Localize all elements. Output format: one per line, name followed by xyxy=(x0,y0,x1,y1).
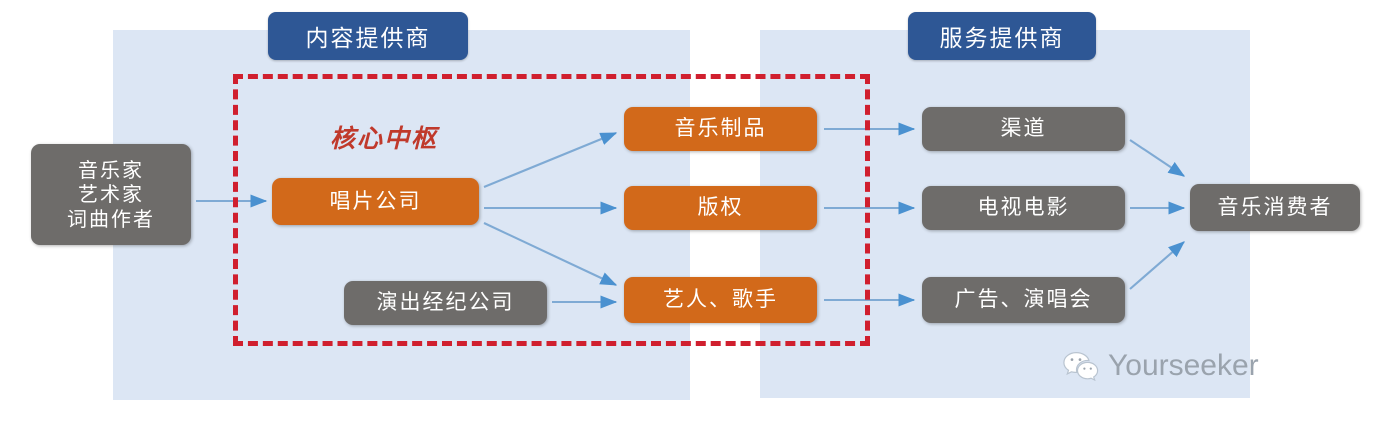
watermark: Yourseeker xyxy=(1063,349,1259,383)
node-music-products: 音乐制品 xyxy=(624,107,817,151)
node-channel-label: 渠道 xyxy=(1001,116,1047,142)
section-header-service-provider: 服务提供商 xyxy=(908,12,1096,60)
node-creators: 音乐家 艺术家 词曲作者 xyxy=(31,144,191,245)
node-channel: 渠道 xyxy=(922,107,1125,151)
node-tv-film: 电视电影 xyxy=(922,186,1125,230)
node-music-consumers: 音乐消费者 xyxy=(1190,184,1360,231)
wechat-icon xyxy=(1063,351,1099,381)
watermark-text: Yourseeker xyxy=(1108,349,1259,383)
node-creators-line-3: 词曲作者 xyxy=(67,207,155,231)
node-performance-agency-label: 演出经纪公司 xyxy=(377,290,515,316)
node-artists-singers-label: 艺人、歌手 xyxy=(663,287,778,313)
section-header-service-provider-label: 服务提供商 xyxy=(940,19,1065,53)
node-copyright: 版权 xyxy=(624,186,817,230)
node-music-products-label: 音乐制品 xyxy=(675,116,767,142)
section-header-content-provider-label: 内容提供商 xyxy=(306,19,431,53)
node-artists-singers: 艺人、歌手 xyxy=(624,277,817,323)
diagram-canvas: 内容提供商 服务提供商 核心中枢 音乐家 艺术家 词曲作者 唱片公司 演出经纪公… xyxy=(0,0,1397,427)
node-ads-concerts: 广告、演唱会 xyxy=(922,277,1125,323)
section-header-content-provider: 内容提供商 xyxy=(268,12,468,60)
node-record-company: 唱片公司 xyxy=(272,178,479,225)
node-record-company-label: 唱片公司 xyxy=(330,189,422,215)
node-music-consumers-label: 音乐消费者 xyxy=(1218,195,1333,221)
node-tv-film-label: 电视电影 xyxy=(978,195,1070,221)
core-hub-annotation: 核心中枢 xyxy=(330,119,438,155)
node-creators-line-2: 艺术家 xyxy=(78,182,144,206)
node-performance-agency: 演出经纪公司 xyxy=(344,281,547,325)
node-copyright-label: 版权 xyxy=(698,195,744,221)
node-creators-line-1: 音乐家 xyxy=(78,158,144,182)
node-ads-concerts-label: 广告、演唱会 xyxy=(955,287,1093,313)
